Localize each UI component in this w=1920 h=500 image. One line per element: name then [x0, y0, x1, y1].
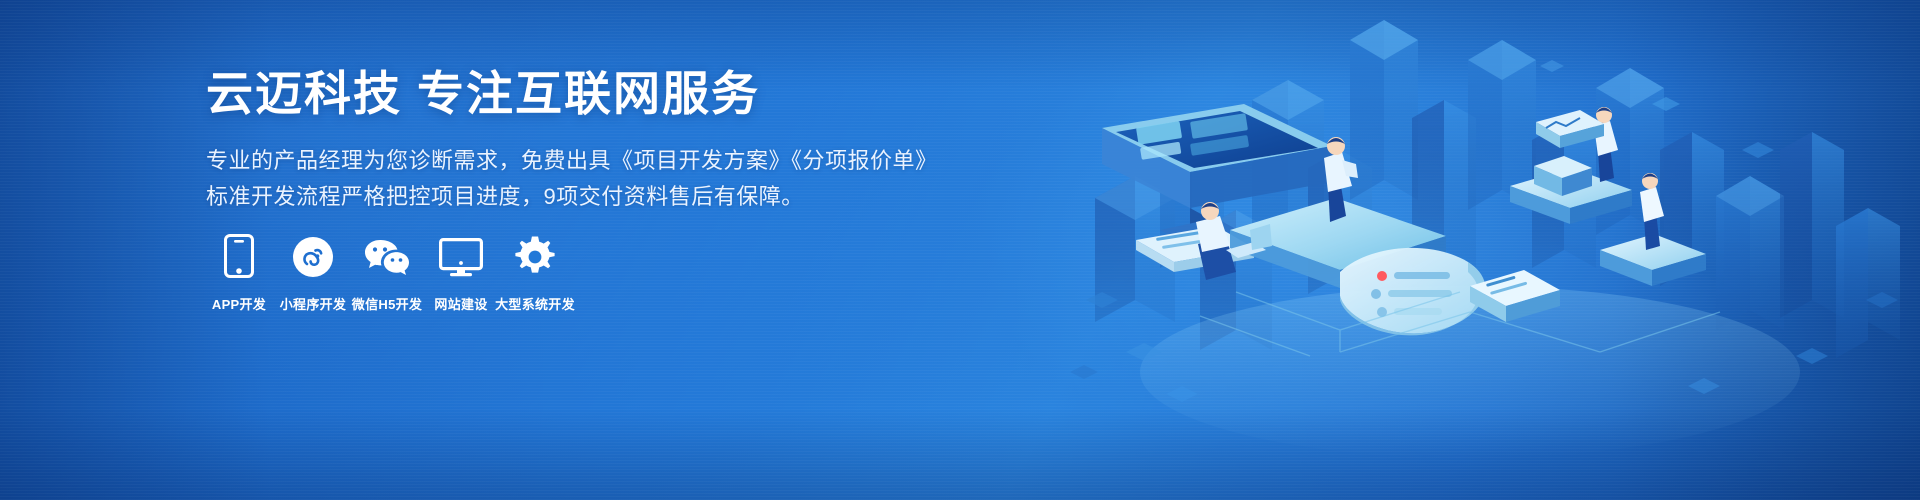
- isometric-tech-city-illustration: [1040, 0, 1920, 500]
- service-label-website: 网站建设: [434, 294, 487, 313]
- hero-subtitle: 专业的产品经理为您诊断需求，免费出具《项目开发方案》《分项报价单》 标准开发流程…: [206, 143, 938, 214]
- service-label-miniprogram: 小程序开发: [280, 294, 347, 313]
- service-icon-row: APP开发 小程序开发: [202, 232, 572, 313]
- page-title: 云迈科技 专注互联网服务: [206, 66, 938, 121]
- mobile-phone-icon: [224, 232, 254, 278]
- service-item-website[interactable]: 网站建设: [424, 232, 498, 313]
- subtitle-line-1: 专业的产品经理为您诊断需求，免费出具《项目开发方案》《分项报价单》: [206, 143, 938, 179]
- service-item-miniprogram[interactable]: 小程序开发: [276, 232, 350, 313]
- gear-icon: [514, 232, 556, 278]
- service-item-app[interactable]: APP开发: [202, 232, 276, 313]
- wechat-icon: [364, 232, 410, 278]
- service-item-wechat[interactable]: 微信H5开发: [350, 232, 424, 313]
- hero-copy: 云迈科技 专注互联网服务 专业的产品经理为您诊断需求，免费出具《项目开发方案》《…: [206, 66, 938, 215]
- subtitle-line-2: 标准开发流程严格把控项目进度，9项交付资料售后有保障。: [206, 179, 938, 215]
- mini-program-icon: [292, 232, 334, 278]
- hero-banner: 云迈科技 专注互联网服务 专业的产品经理为您诊断需求，免费出具《项目开发方案》《…: [0, 0, 1920, 500]
- monitor-icon: [439, 232, 483, 278]
- service-item-system[interactable]: 大型系统开发: [498, 232, 572, 313]
- service-label-system: 大型系统开发: [495, 294, 575, 313]
- service-label-app: APP开发: [212, 294, 266, 313]
- service-label-wechat: 微信H5开发: [352, 294, 422, 313]
